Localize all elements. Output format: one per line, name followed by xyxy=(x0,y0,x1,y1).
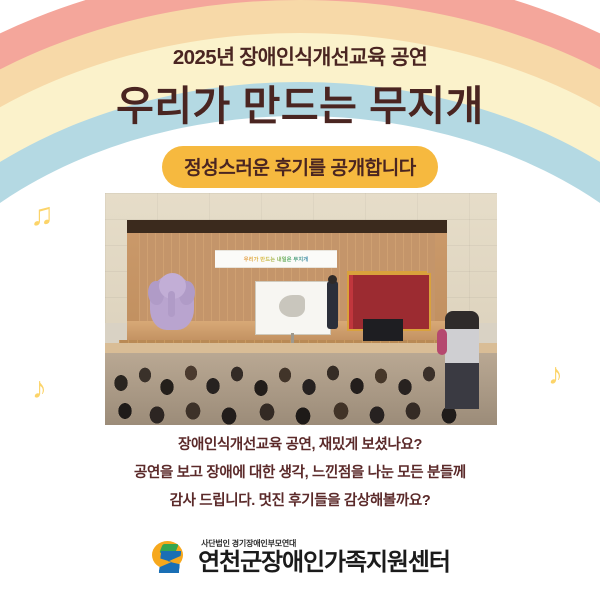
performer-head xyxy=(328,275,337,284)
audience-crowd xyxy=(105,353,497,425)
event-photo: 우리가 만드는 내일은 무지개 xyxy=(105,193,497,425)
organization-name: 연천군장애인가족지원센터 xyxy=(198,551,450,575)
projection-screen-stand xyxy=(291,333,294,343)
shadow-puppet-image xyxy=(279,295,305,317)
performer-figure xyxy=(327,281,338,329)
organization-name-block: 사단법인 경기장애인부모연대 연천군장애인가족지원센터 xyxy=(198,540,450,575)
organization-affiliation: 사단법인 경기장애인부모연대 xyxy=(198,540,450,548)
elephant-puppet-trunk xyxy=(168,291,175,317)
body-copy-line: 공연을 보고 장애에 대한 생각, 느낀점을 나눈 모든 분들께 xyxy=(0,460,600,488)
page-title: 우리가 만드는 무지개 xyxy=(0,84,600,129)
pill-badge-row: 정성스러운 후기를 공개합니다 xyxy=(0,146,600,188)
stage-header-beam xyxy=(127,220,447,233)
stage-banner-text: 우리가 만드는 내일은 무지개 xyxy=(215,253,337,265)
standing-person-arm xyxy=(437,329,447,355)
body-copy-line: 감사 드립니다. 멋진 후기들을 감상해볼까요? xyxy=(0,488,600,516)
footer-logo: 사단법인 경기장애인부모연대 연천군장애인가족지원센터 xyxy=(0,537,600,577)
body-copy-line: 장애인식개선교육 공연, 재밌게 보셨나요? xyxy=(0,432,600,460)
magic-table xyxy=(363,319,403,341)
music-note-icon: ♫ xyxy=(30,196,54,233)
poster-root: 2025년 장애인식개선교육 공연 우리가 만드는 무지개 정성스러운 후기를 … xyxy=(0,0,600,600)
music-note-icon: ♪ xyxy=(548,358,563,392)
standing-person xyxy=(445,311,479,409)
organization-logo-icon xyxy=(150,537,190,577)
music-note-icon: ♪ xyxy=(32,372,47,406)
subtitle-badge: 정성스러운 후기를 공개합니다 xyxy=(162,146,438,188)
headline-text: 2025년 장애인식개선교육 공연 xyxy=(0,40,600,70)
body-copy: 장애인식개선교육 공연, 재밌게 보셨나요? 공연을 보고 장애에 대한 생각,… xyxy=(0,432,600,515)
